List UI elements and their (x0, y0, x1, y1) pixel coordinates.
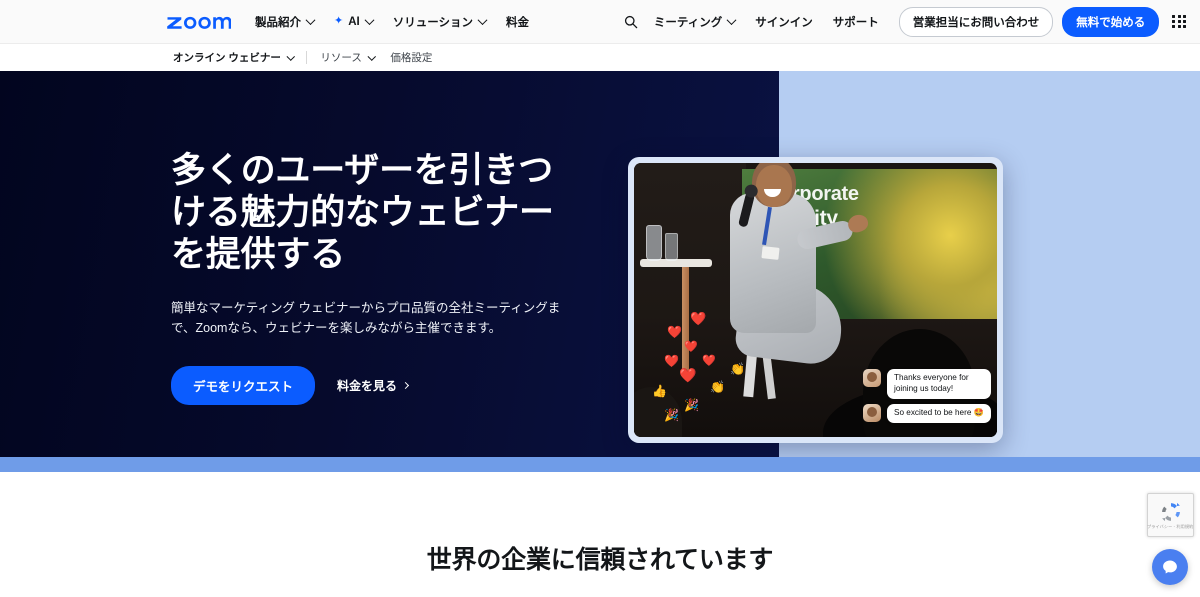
reaction-emoji: ❤️ (684, 341, 698, 352)
nav-item-products[interactable]: 製品紹介 (255, 10, 324, 34)
hero-media-card: d corporate ponsibility (628, 157, 1003, 443)
nav-item-signin[interactable]: サインイン (745, 10, 823, 34)
chevron-down-icon (364, 15, 374, 25)
reaction-emoji: 🎉 (684, 399, 699, 411)
page-title: 多くのユーザーを引きつける魅力的なウェビナーを提供する (171, 150, 586, 276)
recaptcha-icon (1159, 500, 1183, 524)
blue-accent-band (0, 457, 1200, 472)
top-navigation-bar: 製品紹介 ✦ AI ソリューション 料金 (0, 0, 1200, 43)
chat-support-button[interactable] (1152, 549, 1188, 585)
nav-item-meetings[interactable]: ミーティング (644, 10, 745, 34)
subnav-item-online-webinar-label: オンライン ウェビナー (173, 50, 281, 65)
reaction-emoji: 👍 (652, 385, 667, 397)
chevron-down-icon (727, 15, 737, 25)
divider (306, 51, 307, 64)
reaction-emoji: ❤️ (667, 326, 682, 338)
reaction-emoji: 👏 (730, 363, 745, 375)
primary-nav-links: 製品紹介 ✦ AI ソリューション 料金 (255, 10, 539, 34)
chevron-down-icon (368, 52, 376, 60)
request-demo-button[interactable]: デモをリクエスト (171, 366, 315, 405)
webinar-video-still: d corporate ponsibility (634, 163, 997, 437)
speaker-face (756, 165, 792, 207)
chat-message-text: Thanks everyone for joining us today! (887, 369, 991, 399)
recaptcha-badge[interactable]: プライバシー - 利用規約 (1147, 493, 1194, 537)
zoom-logo-icon (167, 14, 231, 30)
search-icon (624, 15, 638, 29)
water-pitcher (646, 225, 662, 261)
secondary-nav-links: ミーティング サインイン サポート 営業担当にお問い合わせ 無料で始める (618, 7, 1186, 37)
chat-bubble-icon (1160, 557, 1180, 577)
zoom-logo[interactable] (167, 12, 231, 32)
nav-item-ai-label: AI (348, 16, 360, 28)
speaker-badge (761, 246, 779, 260)
search-button[interactable] (618, 9, 644, 35)
chat-message-text: So excited to be here 🤩 (887, 404, 991, 423)
contact-sales-button[interactable]: 営業担当にお問い合わせ (899, 7, 1054, 37)
trusted-by-section: 世界の企業に信頼されています (0, 472, 1200, 597)
hero-subheading: 簡単なマーケティング ウェビナーからプロ品質の全社ミーティングまで、Zoomなら… (171, 298, 571, 339)
water-glass (665, 233, 678, 261)
chat-message-row: So excited to be here 🤩 (863, 404, 991, 423)
nav-item-support-label: サポート (833, 14, 879, 30)
nav-item-meetings-label: ミーティング (654, 14, 722, 30)
reaction-emoji: ❤️ (664, 355, 679, 367)
chevron-down-icon (478, 15, 488, 25)
subnav-item-resources-label: リソース (320, 50, 361, 65)
apps-grid-icon[interactable] (1172, 15, 1186, 29)
reaction-emoji: ❤️ (702, 355, 716, 366)
subnav-item-pricing-label: 価格設定 (390, 50, 432, 65)
nav-item-ai[interactable]: ✦ AI (324, 12, 383, 32)
secondary-navigation-bar: オンライン ウェビナー リソース 価格設定 (0, 43, 1200, 71)
chevron-down-icon (306, 15, 316, 25)
nav-item-products-label: 製品紹介 (255, 14, 301, 30)
avatar (863, 369, 881, 387)
webinar-chat-overlay: Thanks everyone for joining us today! So… (863, 369, 991, 423)
avatar (863, 404, 881, 422)
sparkle-icon: ✦ (334, 16, 343, 27)
page-root: 製品紹介 ✦ AI ソリューション 料金 (0, 0, 1200, 597)
subnav-item-online-webinar[interactable]: オンライン ウェビナー (173, 50, 293, 65)
signup-free-button[interactable]: 無料で始める (1062, 7, 1159, 37)
subnav-item-pricing[interactable]: 価格設定 (390, 50, 432, 65)
nav-item-solutions[interactable]: ソリューション (383, 10, 496, 34)
nav-item-pricing-label: 料金 (506, 14, 529, 30)
nav-item-signin-label: サインイン (755, 14, 813, 30)
view-pricing-link[interactable]: 料金を見る (337, 377, 408, 394)
reaction-emoji: 🎉 (664, 409, 679, 421)
chevron-right-icon (402, 381, 409, 388)
nav-item-solutions-label: ソリューション (393, 14, 473, 30)
reaction-emoji: 👏 (710, 381, 725, 393)
chevron-down-icon (287, 52, 295, 60)
subnav-item-resources[interactable]: リソース (320, 50, 374, 65)
hero-copy: 多くのユーザーを引きつける魅力的なウェビナーを提供する 簡単なマーケティング ウ… (171, 150, 591, 405)
reaction-emoji: ❤️ (679, 369, 696, 383)
view-pricing-label: 料金を見る (337, 377, 397, 394)
hero-section: 多くのユーザーを引きつける魅力的なウェビナーを提供する 簡単なマーケティング ウ… (0, 71, 1200, 457)
nav-item-pricing[interactable]: 料金 (496, 10, 539, 34)
recaptcha-legal-text: プライバシー - 利用規約 (1147, 525, 1193, 531)
chat-message-row: Thanks everyone for joining us today! (863, 369, 991, 399)
table-leg (682, 267, 689, 377)
trusted-by-title: 世界の企業に信頼されています (0, 540, 1200, 576)
nav-item-support[interactable]: サポート (823, 10, 889, 34)
hero-cta-group: デモをリクエスト 料金を見る (171, 366, 591, 405)
reaction-emoji: ❤️ (690, 313, 706, 326)
